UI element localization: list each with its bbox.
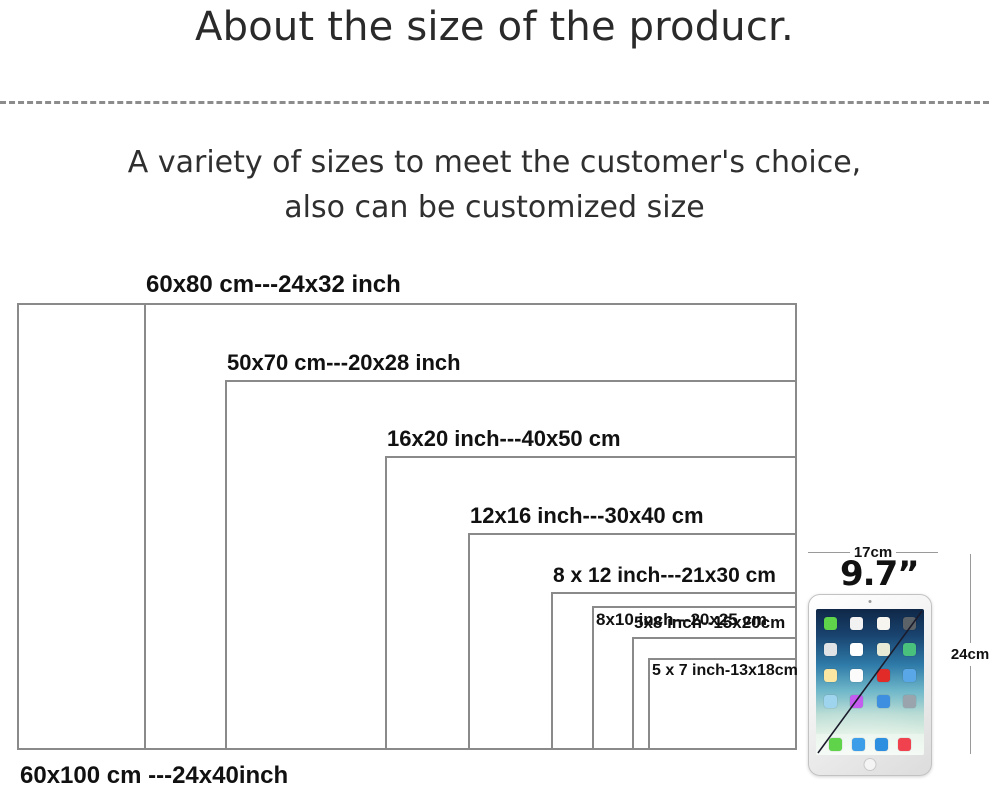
page-title: About the size of the producr.: [0, 4, 989, 50]
subtitle-line-1: A variety of sizes to meet the customer'…: [128, 145, 861, 180]
dashed-divider: [0, 101, 989, 104]
size-chart-page: About the size of the producr. A variety…: [0, 0, 989, 800]
home-screen-icon-grid: [822, 617, 918, 715]
size-label-50x70: 50x70 cm---20x28 inch: [227, 352, 461, 374]
front-camera-icon: [869, 600, 872, 603]
home-screen-dock: [816, 734, 924, 755]
music-icon[interactable]: [898, 738, 911, 751]
size-label-15x20: 5x8 inch--15x20cm: [634, 614, 785, 631]
dimension-bar-bottom: [970, 666, 971, 755]
contacts-icon[interactable]: [824, 643, 837, 656]
phone-icon[interactable]: [829, 738, 842, 751]
notes-icon[interactable]: [824, 669, 837, 682]
safari-icon[interactable]: [875, 738, 888, 751]
reminders-icon[interactable]: [903, 643, 916, 656]
dimension-bar-top: [970, 554, 971, 643]
size-label-60x80: 60x80 cm---24x32 inch: [146, 273, 401, 297]
settings-icon[interactable]: [903, 695, 916, 708]
messages-icon[interactable]: [824, 617, 837, 630]
calendar-icon[interactable]: [850, 617, 863, 630]
gamecenter-icon[interactable]: [903, 669, 916, 682]
size-label-30x40: 12x16 inch---30x40 cm: [470, 505, 704, 527]
maps-icon[interactable]: [877, 643, 890, 656]
itunes-icon[interactable]: [850, 695, 863, 708]
dimension-bar-right: [896, 552, 938, 553]
tablet-comparison: 17cm 9.7” 24cm: [800, 536, 989, 781]
tablet-height-dimension: 24cm: [950, 554, 989, 754]
size-label-40x50: 16x20 inch---40x50 cm: [387, 428, 621, 450]
camera-icon[interactable]: [903, 617, 916, 630]
tablet-device: [808, 594, 932, 776]
photos-icon[interactable]: [877, 617, 890, 630]
size-label-21x30: 8 x 12 inch---21x30 cm: [553, 565, 776, 586]
tablet-height-label: 24cm: [951, 646, 989, 663]
subtitle-line-2: also can be customized size: [0, 185, 989, 230]
page-subtitle: A variety of sizes to meet the customer'…: [0, 140, 989, 230]
appstore-icon[interactable]: [877, 695, 890, 708]
tablet-diagonal-label: 9.7”: [840, 554, 919, 594]
home-button-icon: [864, 758, 877, 771]
clock-icon[interactable]: [850, 643, 863, 656]
size-label-60x100: 60x100 cm ---24x40inch: [20, 762, 288, 790]
dimension-bar-left: [808, 552, 850, 553]
size-label-13x18: 5 x 7 inch-13x18cm: [652, 663, 798, 679]
tablet-screen: [816, 609, 924, 755]
weather-icon[interactable]: [824, 695, 837, 708]
mail-icon[interactable]: [852, 738, 865, 751]
newsstand-icon[interactable]: [850, 669, 863, 682]
youtube-icon[interactable]: [877, 669, 890, 682]
